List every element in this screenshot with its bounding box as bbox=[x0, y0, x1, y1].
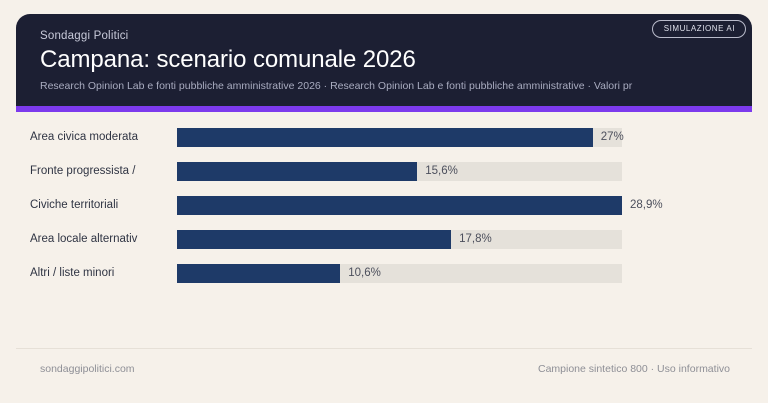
page-subtitle: Research Opinion Lab e fonti pubbliche a… bbox=[40, 79, 734, 93]
bar-track bbox=[177, 264, 622, 283]
bar-value: 28,9% bbox=[630, 196, 663, 215]
bar-row: Area civica moderata 27% bbox=[16, 124, 752, 158]
brand-eyebrow: Sondaggi Politici bbox=[40, 29, 734, 43]
bar-value: 17,8% bbox=[459, 230, 492, 249]
bar-fill bbox=[177, 230, 451, 249]
bar-chart: Area civica moderata 27% Fronte progress… bbox=[16, 124, 752, 294]
bar-track bbox=[177, 196, 622, 215]
bar-fill bbox=[177, 128, 593, 147]
infographic-card: Sondaggi Politici Campana: scenario comu… bbox=[0, 0, 768, 403]
bar-label: Fronte progressista / bbox=[30, 162, 180, 181]
bar-label: Area civica moderata bbox=[30, 128, 180, 147]
bar-label: Civiche territoriali bbox=[30, 196, 180, 215]
bar-track bbox=[177, 128, 622, 147]
bar-fill bbox=[177, 196, 622, 215]
bar-track bbox=[177, 162, 622, 181]
bar-value: 10,6% bbox=[348, 264, 381, 283]
bar-track bbox=[177, 230, 622, 249]
ai-simulation-badge: SIMULAZIONE AI bbox=[652, 20, 746, 38]
accent-rule bbox=[16, 106, 752, 112]
bar-value: 15,6% bbox=[425, 162, 458, 181]
bar-fill bbox=[177, 264, 340, 283]
bar-value: 27% bbox=[601, 128, 624, 147]
bar-row: Fronte progressista / 15,6% bbox=[16, 158, 752, 192]
footer-source: sondaggipolitici.com bbox=[40, 362, 135, 376]
page-title: Campana: scenario comunale 2026 bbox=[40, 45, 734, 75]
bar-fill bbox=[177, 162, 417, 181]
bar-row: Area locale alternativ 17,8% bbox=[16, 226, 752, 260]
bar-row: Civiche territoriali 28,9% bbox=[16, 192, 752, 226]
bar-row: Altri / liste minori 10,6% bbox=[16, 260, 752, 294]
header-text-block: Sondaggi Politici Campana: scenario comu… bbox=[40, 29, 734, 93]
footer-note: Campione sintetico 800 · Uso informativo bbox=[538, 362, 730, 376]
footer: sondaggipolitici.com Campione sintetico … bbox=[16, 348, 752, 388]
header-card: Sondaggi Politici Campana: scenario comu… bbox=[16, 14, 752, 106]
bar-label: Altri / liste minori bbox=[30, 264, 180, 283]
bar-label: Area locale alternativ bbox=[30, 230, 180, 249]
